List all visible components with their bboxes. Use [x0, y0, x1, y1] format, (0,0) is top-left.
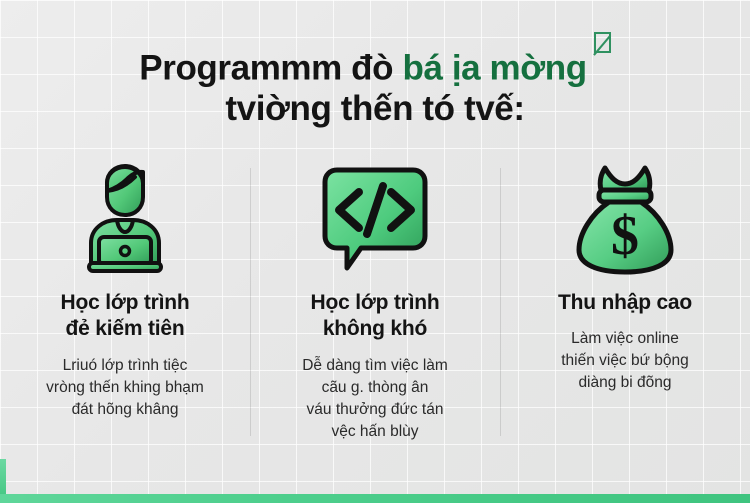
code-speech-bubble-icon — [321, 160, 429, 278]
bottom-accent-bar — [0, 494, 750, 503]
page-title: Programmm đò bá ịa mờng tviờng thến tó t… — [0, 32, 750, 128]
feature-body: Dễ dàng tìm việc làm cãu g. thòng ân váu… — [302, 355, 448, 443]
feature-heading: Học lớp trình không khó — [311, 290, 440, 343]
feature-columns: Học lớp trình đẻ kiếm tiên Lriuó lớp trì… — [0, 160, 750, 443]
feature-heading: Thu nhập cao — [558, 290, 692, 316]
missing-glyph-box-icon — [594, 32, 611, 53]
feature-column-2: Học lớp trình không khó Dễ dàng tìm việc… — [250, 160, 500, 443]
svg-text:$: $ — [611, 205, 639, 267]
feature-body: Lriuó lớp trình tiệc vròng thến khing bh… — [46, 355, 204, 421]
person-with-laptop-icon — [73, 160, 177, 278]
headline-line-1: Programmm đò bá ịa mờng — [0, 32, 750, 89]
headline-line-2: tviờng thến tó tvế: — [0, 89, 750, 129]
feature-body: Làm việc online thiến việc bứ bộng diàng… — [561, 328, 689, 394]
infographic-poster: Programmm đò bá ịa mờng tviờng thến tó t… — [0, 0, 750, 503]
feature-heading: Học lớp trình đẻ kiếm tiên — [61, 290, 190, 343]
feature-column-1: Học lớp trình đẻ kiếm tiên Lriuó lớp trì… — [0, 160, 250, 421]
money-bag-icon: $ — [575, 160, 675, 278]
headline-plain-text: Programmm đò — [139, 49, 402, 88]
headline-accent-text: bá ịa mờng — [402, 49, 586, 88]
feature-column-3: $ Thu nhập cao Làm việc online thiến việ… — [500, 160, 750, 394]
